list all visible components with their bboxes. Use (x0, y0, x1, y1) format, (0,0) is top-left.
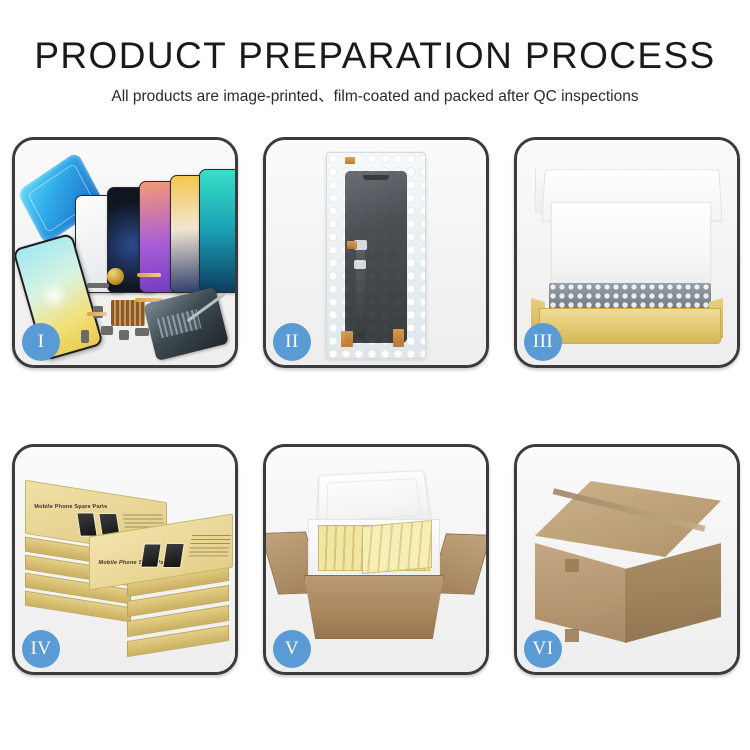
box-artwork-phone (76, 512, 98, 536)
step-badge-2: II (273, 323, 311, 361)
spare-part-icon (119, 330, 129, 340)
bubble-wrap-layer (549, 283, 711, 311)
adhesive-tape-icon (345, 157, 355, 164)
retail-box-label: Mobile Phone Spare Parts (98, 560, 172, 566)
process-step-2[interactable]: II (263, 137, 489, 368)
shipping-carton-front (304, 575, 444, 639)
retail-box-stack: Mobile Phone Spare Parts Mobile Phone Sp… (23, 469, 233, 659)
chip-array-icon (111, 300, 145, 326)
spare-part-icon (101, 326, 113, 335)
bubble-wrap-sleeve (326, 152, 426, 359)
process-step-3[interactable]: III (514, 137, 740, 368)
box-artwork-text-lines (189, 534, 232, 556)
adhesive-tape-icon (347, 241, 357, 249)
step-badge-1: I (22, 323, 60, 361)
process-step-4[interactable]: Mobile Phone Spare Parts Mobile Phone Sp… (12, 444, 238, 675)
adhesive-tape-icon (341, 331, 353, 347)
retail-box-label: Mobile Phone Spare Parts (34, 504, 108, 510)
adhesive-tape-icon (393, 329, 404, 347)
phone-display-teal (199, 169, 238, 293)
process-step-1[interactable]: I (12, 137, 238, 368)
step-badge-3: III (524, 323, 562, 361)
spare-part-icon (135, 328, 149, 336)
carton-tape-patch (565, 559, 579, 572)
page-title: PRODUCT PREPARATION PROCESS (0, 34, 750, 78)
packed-yellow-boxes-right (362, 520, 432, 574)
spare-part-icon (87, 283, 109, 288)
process-step-6[interactable]: VI (514, 444, 740, 675)
spare-part-icon (81, 330, 89, 343)
process-step-grid: I II (12, 137, 739, 675)
step-badge-5: V (273, 630, 311, 668)
kraft-box-front (539, 308, 721, 344)
flex-cable-icon (137, 273, 161, 277)
process-step-5[interactable]: V (263, 444, 489, 675)
flex-cable-icon (87, 312, 107, 316)
page-header: PRODUCT PREPARATION PROCESS All products… (0, 0, 750, 107)
phone-notch-icon (363, 175, 389, 180)
page-subtitle: All products are image-printed、film-coat… (0, 87, 750, 107)
box-artwork-phone (140, 543, 162, 567)
gold-component-icon (107, 268, 124, 285)
lcd-screen-assembly (345, 171, 407, 343)
white-foam-sheet (551, 202, 711, 286)
step-badge-6: VI (524, 630, 562, 668)
carton-tape-patch (565, 629, 579, 642)
connector-icon (354, 260, 366, 269)
carton-left-face (535, 543, 627, 643)
box-artwork-phone (162, 543, 185, 568)
step-badge-4: IV (22, 630, 60, 668)
carton-right-face (625, 543, 721, 643)
